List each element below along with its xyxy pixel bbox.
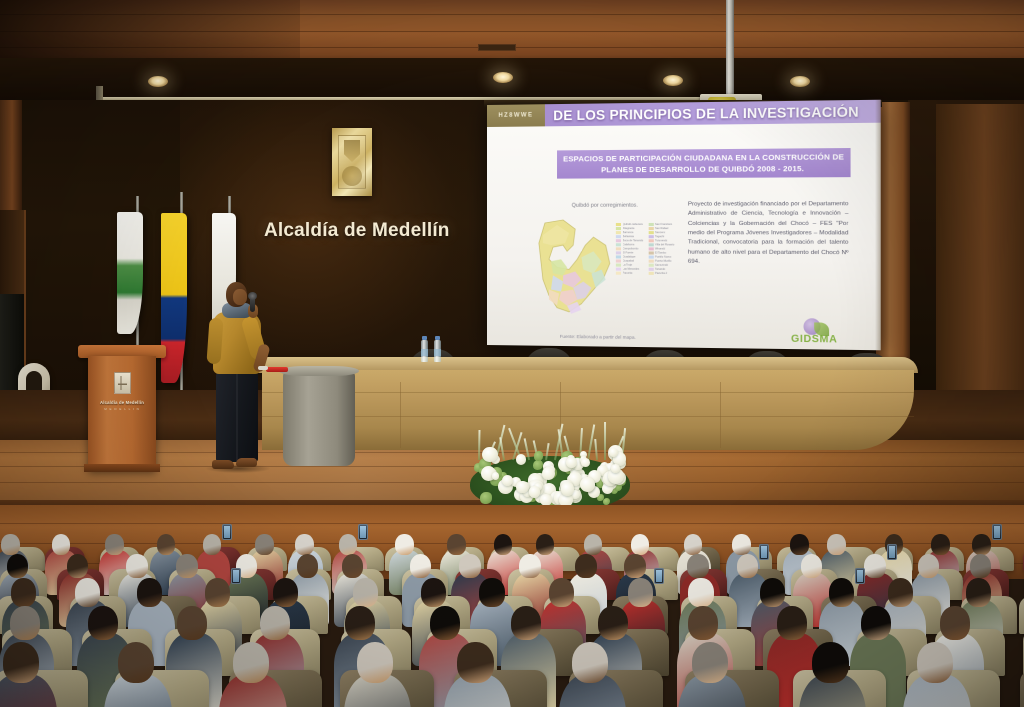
audience-member-head — [177, 606, 207, 640]
audience-member-head — [917, 642, 954, 683]
legend-swatch — [648, 272, 653, 275]
audience-member-head — [233, 642, 270, 683]
lectern-sublabel: M E D E L L I N — [94, 407, 150, 411]
audience-member-head — [631, 534, 650, 555]
flag-medellin — [117, 212, 143, 334]
phone-screen — [857, 570, 863, 582]
audience-member-head — [737, 554, 759, 578]
legend-swatch — [648, 264, 653, 267]
white-flower — [529, 486, 541, 498]
audience-member-head — [205, 578, 230, 607]
audience-member-head — [353, 578, 378, 607]
bottle-cap — [435, 336, 440, 340]
flower-spike — [499, 437, 505, 460]
legend-label: Pacurita — [623, 272, 633, 275]
audience-member-head — [888, 578, 913, 607]
legend-swatch — [648, 247, 653, 250]
audience-member-head — [688, 578, 713, 607]
legend-label: Pueblo Nuevo — [655, 256, 672, 259]
presenter-shoe-right — [236, 458, 257, 467]
audience-member-head — [732, 534, 751, 555]
legend-swatch — [648, 223, 653, 226]
white-flower — [609, 448, 618, 457]
audience-chair — [1020, 670, 1024, 707]
foliage-sprig — [480, 492, 492, 504]
legend-label: Villa del Rosario — [655, 243, 674, 246]
conference-hall-photo: Alcaldía de Medellín HZ8WWE DE LOS PRINC… — [0, 0, 1024, 707]
legend-label: Tagachi — [655, 235, 664, 238]
legend-label: Puerto Murillo — [655, 260, 672, 263]
audience-member-head — [430, 606, 460, 640]
legend-label: Campobonito — [623, 247, 639, 250]
map-legend-row: Sanceno — [648, 231, 674, 234]
audience-member-head — [459, 554, 481, 578]
map-legend-row: Puerto Murillo — [648, 260, 674, 263]
legend-swatch — [648, 231, 653, 234]
map-legend-row: San Rafael — [648, 227, 674, 230]
floral-arrangement — [470, 414, 630, 514]
legend-swatch — [648, 235, 653, 238]
audience-member-head — [157, 534, 176, 555]
white-flower — [566, 457, 577, 468]
legend-label: San Rafael — [655, 227, 668, 230]
legend-label: Calahorra — [623, 243, 635, 246]
presenter-face — [233, 289, 247, 305]
map-legend-row: Quibdó cabecera — [616, 223, 643, 226]
phone-screen — [224, 526, 230, 538]
legend-swatch — [616, 231, 621, 234]
legend-label: Pacurita 2 — [655, 272, 667, 275]
bottle-cap — [422, 336, 427, 340]
downlight-2 — [663, 75, 683, 86]
audience-member-head — [479, 578, 504, 607]
phone-screen — [233, 570, 239, 582]
legend-label: San Francisco — [655, 223, 672, 226]
white-flower — [502, 475, 513, 486]
audience-seating — [0, 520, 1024, 707]
audience-member-head — [931, 534, 950, 555]
map-legend-column-right: San FranciscoSan RafaelSancenoTagachiTut… — [648, 223, 674, 275]
smartphone — [855, 568, 865, 584]
audience-member-head — [549, 578, 574, 607]
phone-screen — [994, 526, 1000, 538]
medellin-coat-of-arms-plaque — [332, 128, 372, 196]
audience-member-head — [176, 554, 198, 578]
audience-member-head — [105, 534, 124, 555]
ceiling-vent — [478, 44, 516, 51]
screen-right-edge — [875, 100, 880, 351]
slide-header-title: DE LOS PRINCIPIOS DE LA INVESTIGACIÓN — [545, 103, 881, 122]
legend-swatch — [616, 272, 621, 275]
microphone-head-icon — [248, 292, 257, 300]
legend-swatch — [616, 247, 621, 250]
legend-swatch — [616, 223, 621, 226]
audience-member-head — [118, 642, 155, 683]
legend-swatch — [616, 227, 621, 230]
presenter — [200, 282, 280, 477]
chair-back-cutout — [26, 371, 42, 391]
audience-member-head — [295, 534, 314, 555]
audience-member-head — [572, 642, 609, 683]
wall-wood-right — [936, 104, 1024, 400]
audience-chair — [1019, 596, 1024, 634]
stage-side-table — [283, 372, 355, 466]
map-legend-row: Tutunendo — [648, 239, 674, 242]
projector-mount-pole — [726, 0, 734, 96]
crest-pattern — [118, 376, 127, 390]
audience-member-head — [357, 642, 394, 683]
flower-spike — [478, 430, 481, 460]
legend-label: Guadalupe — [623, 255, 636, 258]
smartphone — [992, 524, 1002, 540]
audience-member-head — [447, 534, 466, 555]
legend-swatch — [648, 256, 653, 259]
legend-label: Tutunendo — [655, 239, 668, 242]
audience-member-head — [410, 554, 432, 578]
audience-member-head — [972, 534, 991, 555]
white-flower — [561, 482, 575, 496]
audience-member-head — [273, 578, 298, 607]
flag-colombia — [161, 213, 187, 383]
legend-swatch — [616, 268, 621, 271]
audience-member-head — [801, 554, 823, 578]
smartphone — [654, 568, 664, 584]
audience-member-head — [421, 578, 446, 607]
phone-screen — [889, 546, 895, 558]
audience-member-head — [494, 534, 513, 555]
audience-member-head — [918, 554, 940, 578]
phone-screen — [761, 546, 767, 558]
smartphone — [887, 544, 897, 560]
map-legend-row: Winandó — [648, 247, 674, 250]
legend-swatch — [648, 251, 653, 254]
audience-member-head — [339, 534, 358, 555]
map-legend-column-left: Quibdó cabeceraAltagraciaBarrancaBellavi… — [616, 223, 643, 275]
audience-member-head — [7, 554, 29, 578]
downlight-3 — [790, 76, 810, 87]
audience-member-head — [827, 534, 846, 555]
stage-side-table-top — [279, 366, 359, 376]
white-flower — [611, 464, 620, 473]
white-flower — [492, 472, 499, 479]
slide-map-caption-top: Quibdó por corregimientos. — [539, 203, 671, 209]
audience-member-head — [598, 606, 628, 640]
audience-member-head — [88, 606, 118, 640]
map-legend-row: Calahorra — [616, 243, 643, 246]
lectern: Alcaldía de Medellín M E D E L L I N — [88, 356, 156, 470]
audience-member-head — [126, 554, 148, 578]
legend-swatch — [648, 243, 653, 246]
trouser-seam — [236, 370, 238, 462]
audience-member-head — [790, 534, 809, 555]
legend-label: Guayabal — [623, 260, 634, 263]
legend-swatch — [648, 268, 653, 271]
white-flower — [516, 481, 529, 494]
legend-swatch — [648, 227, 653, 230]
audience-member-head — [137, 578, 162, 607]
legend-label: Sanceno — [655, 231, 666, 234]
legend-swatch — [616, 239, 621, 242]
audience-member-head — [3, 642, 40, 683]
legend-swatch — [616, 235, 621, 238]
venue-wall-title: Alcaldía de Medellín — [264, 220, 454, 242]
audience-member-head — [342, 554, 364, 578]
audience-member-head — [10, 606, 40, 640]
audience-member-head — [760, 578, 785, 607]
lectern-base — [84, 464, 160, 472]
projection-screen: HZ8WWE DE LOS PRINCIPIOS DE LA INVESTIGA… — [487, 100, 881, 351]
table-panel-seam — [720, 382, 721, 448]
audience-member-head — [970, 554, 992, 578]
legend-swatch — [648, 260, 653, 263]
audience-member-head — [297, 554, 319, 578]
slide-content: ESPACIOS DE PARTICIPACIÓN CIUDADANA EN L… — [487, 123, 881, 351]
audience-member-head — [624, 554, 646, 578]
map-legend-row: Guayabal — [616, 259, 643, 262]
legend-swatch — [616, 264, 621, 267]
map-legend-row: Pueblo Nuevo — [648, 256, 674, 259]
map-legend-row: Las Mercedes — [616, 268, 643, 271]
smartphone — [231, 568, 241, 584]
presenter-shoe-left — [212, 460, 234, 469]
legend-label: Las Mercedes — [623, 268, 640, 271]
audience-member-head — [688, 606, 718, 640]
audience-member-head — [861, 606, 891, 640]
white-flower — [482, 447, 498, 463]
seal-icon — [342, 166, 362, 186]
lectern-label: Alcaldía de Medellín — [94, 400, 150, 405]
white-flower — [540, 494, 552, 506]
water-bottle-2 — [434, 340, 441, 362]
slide-header-tab: HZ8WWE — [487, 104, 545, 127]
map-legend-row: La Troje — [616, 264, 643, 267]
legend-label: Barranca — [623, 231, 634, 234]
legend-label: El Tambo — [655, 251, 666, 254]
audience-member-head — [345, 606, 375, 640]
phone-screen — [360, 526, 366, 538]
map-legend-row: Tanando — [648, 268, 674, 271]
legend-swatch — [648, 239, 653, 242]
legend-label: La Troje — [623, 264, 633, 267]
smartphone — [222, 524, 232, 540]
audience-member-head — [67, 554, 89, 578]
slide-subtitle: ESPACIOS DE PARTICIPACIÓN CIUDADANA EN L… — [557, 148, 851, 179]
legend-label: Altagracia — [623, 227, 635, 230]
audience-member-head — [812, 642, 849, 683]
downlight-1 — [148, 76, 168, 87]
audience-member-head — [966, 578, 991, 607]
audience-member-head — [75, 578, 100, 607]
legend-label: Tanando — [655, 268, 665, 271]
smartphone — [358, 524, 368, 540]
gidsma-logo: GIDSMA — [780, 318, 848, 348]
presenter-wristwatch — [258, 366, 268, 370]
medellin-crest-icon — [114, 372, 131, 394]
legend-label: Bellavista — [623, 235, 634, 238]
legend-swatch — [616, 259, 621, 262]
audience-member-head — [395, 534, 414, 555]
legend-swatch — [616, 251, 621, 254]
audience-member-head — [511, 606, 541, 640]
foliage-sprig — [534, 451, 543, 460]
map-legend-row: Campobonito — [616, 247, 643, 250]
audience-member-head — [777, 606, 807, 640]
map-legend-row: Altagracia — [616, 227, 643, 230]
audience-member-head — [940, 606, 970, 640]
audience-member-head — [457, 642, 494, 683]
audience-member-head — [584, 534, 603, 555]
audience-member-head — [864, 554, 886, 578]
bottle-label — [421, 349, 428, 356]
map-legend-row: San Francisco — [648, 223, 674, 226]
table-panel-seam — [400, 382, 401, 448]
audience-member-head — [255, 534, 274, 555]
map-legend-row: Pacurita — [616, 272, 643, 275]
audience-member-head — [1, 534, 20, 555]
white-flower — [516, 454, 526, 464]
legend-label: Winandó — [655, 247, 666, 250]
audience-member-head — [692, 642, 729, 683]
map-legend: Quibdó cabeceraAltagraciaBarrancaBellavi… — [616, 223, 680, 275]
legend-swatch — [616, 255, 621, 258]
map-legend-row: Guadalupe — [616, 255, 643, 258]
presenter-trousers — [216, 370, 258, 462]
downlight-4 — [493, 72, 513, 83]
legend-label: Samurindó — [655, 264, 668, 267]
audience-member-head — [829, 578, 854, 607]
flower-spike — [604, 422, 606, 460]
bottle-label — [434, 349, 441, 356]
flower-spike — [594, 439, 598, 460]
map-legend-row: Villa del Rosario — [648, 243, 674, 246]
white-flower — [580, 477, 595, 492]
audience-member-head — [536, 534, 555, 555]
audience-member-head — [260, 606, 290, 640]
audience-member-head — [11, 578, 36, 607]
map-legend-row: Pacurita 2 — [648, 272, 674, 275]
gidsma-logo-text: GIDSMA — [780, 333, 848, 345]
audience-member-head — [519, 554, 541, 578]
map-legend-row: Boca de Tanando — [616, 239, 643, 242]
legend-label: Quibdó cabecera — [623, 223, 643, 226]
map-legend-row: Bellavista — [616, 235, 643, 238]
map-legend-row: Barranca — [616, 231, 643, 234]
white-flower — [581, 458, 590, 467]
smartphone — [759, 544, 769, 560]
slide-map-caption-bottom: Fuente: Elaborado a partir del mapa. — [527, 333, 669, 340]
audience-member-head — [203, 534, 222, 555]
audience-member-head — [575, 554, 597, 578]
ceiling-shadow-left — [0, 0, 300, 62]
map-legend-row: Samurindó — [648, 264, 674, 267]
audience-member-head — [628, 578, 653, 607]
map-legend-row: El Tambo — [648, 251, 674, 254]
audience-member-head — [684, 534, 703, 555]
legend-label: El Fuerte — [623, 251, 634, 254]
map-legend-row: El Fuerte — [616, 251, 643, 254]
slide-body-text: Proyecto de investigación financiado por… — [688, 200, 848, 268]
legend-swatch — [616, 243, 621, 246]
phone-screen — [656, 570, 662, 582]
water-bottle-1 — [421, 340, 428, 362]
audience-member-head — [52, 534, 71, 555]
audience-member-head — [687, 554, 709, 578]
map-legend-row: Tagachi — [648, 235, 674, 238]
legend-label: Boca de Tanando — [623, 239, 644, 242]
